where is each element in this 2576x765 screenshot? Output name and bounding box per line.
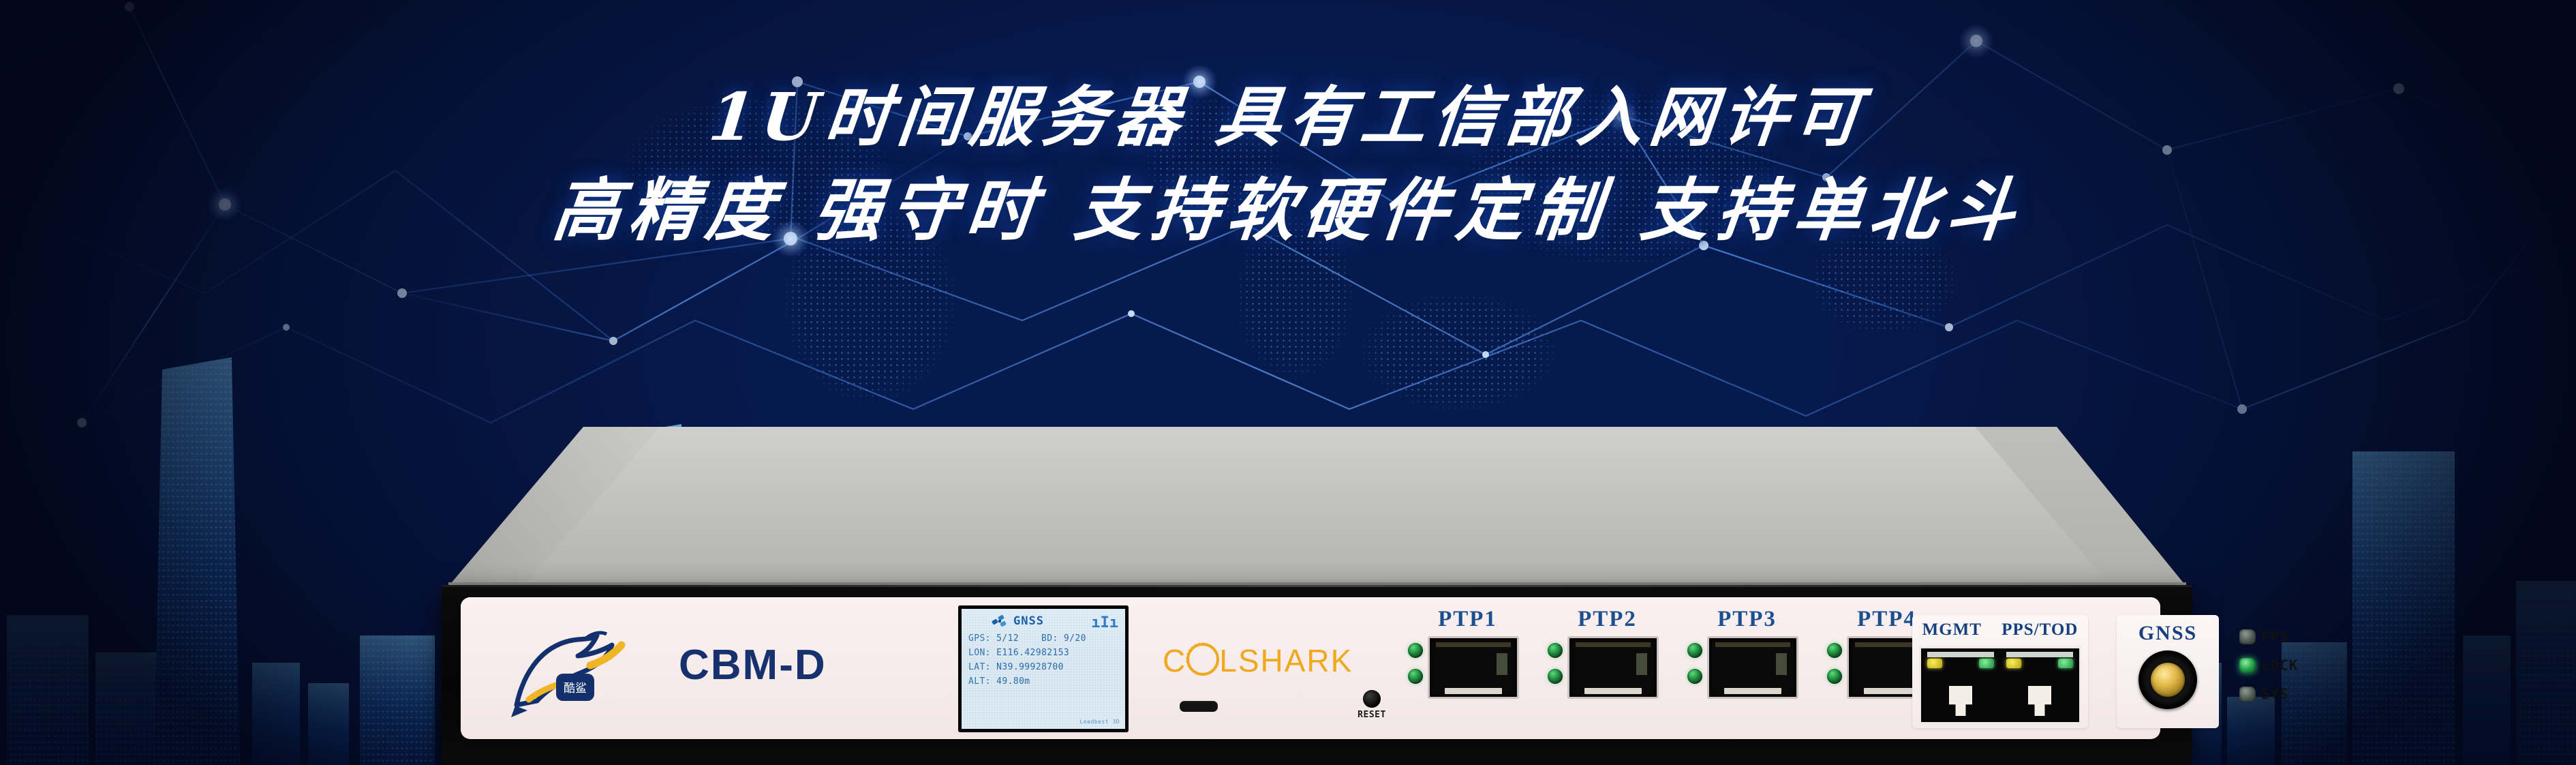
- device-front-panel: 酷鲨 CBM-D GNSS ıIı: [461, 597, 2160, 739]
- mgmt-led-yellow: [1927, 659, 1942, 668]
- lcd-title: GNSS: [1013, 614, 1044, 628]
- status-led-group: PPS LOCK SYS: [2239, 629, 2299, 702]
- ptp-4-led-bottom: [1827, 669, 1842, 684]
- lcd-gps-key: GPS:: [968, 633, 991, 644]
- coolshark-wordmark: CLSHARK: [1163, 642, 1353, 679]
- ptp-1-led-bottom: [1408, 669, 1423, 684]
- ptp-2-led-bottom: [1548, 669, 1563, 684]
- satellite-icon: [992, 614, 1009, 628]
- status-led-sys: SYS: [2239, 686, 2299, 702]
- coolshark-shark-logo: 酷鲨: [488, 615, 672, 724]
- lcd-lon-value: E116.42982153: [996, 648, 1069, 658]
- svg-text:酷鲨: 酷鲨: [564, 682, 587, 695]
- ptp-2-leds: [1548, 636, 1563, 684]
- mgmt-rj45-port[interactable]: [1923, 650, 1998, 720]
- sys-led-label: SYS: [2261, 686, 2289, 702]
- lock-led-label: LOCK: [2261, 657, 2299, 674]
- device-model-label: CBM-D: [679, 641, 827, 689]
- pps-tod-rj45-port[interactable]: [2002, 650, 2077, 720]
- ptp-port-2[interactable]: PTP2: [1548, 607, 1667, 699]
- pps-tod-led-green: [2058, 659, 2073, 668]
- reset-pinhole-icon[interactable]: [1363, 690, 1381, 708]
- lcd-lon-key: LON:: [968, 648, 991, 658]
- lcd-row-lat: LAT: N39.99928700: [962, 658, 1125, 672]
- reset-label: RESET: [1348, 710, 1396, 720]
- pps-tod-port-label: PPS/TOD: [2002, 620, 2078, 640]
- lcd-alt-key: ALT:: [968, 676, 991, 687]
- sys-led-icon: [2239, 687, 2256, 702]
- ptp-port-1-label: PTP1: [1408, 607, 1527, 632]
- status-led-pps: PPS: [2239, 629, 2299, 645]
- pps-tod-led-yellow: [2006, 659, 2021, 668]
- gnss-label: GNSS: [2117, 615, 2219, 645]
- usb-slot[interactable]: [1180, 701, 1218, 712]
- ptp-3-led-top: [1687, 643, 1702, 658]
- ptp-3-leds: [1687, 636, 1702, 684]
- pps-led-icon: [2239, 629, 2256, 644]
- ptp-3-sfp-cage[interactable]: [1707, 636, 1798, 699]
- ptp-port-3-label: PTP3: [1687, 607, 1807, 632]
- lock-led-icon: [2239, 658, 2256, 673]
- ptp-2-sfp-cage[interactable]: [1567, 636, 1659, 699]
- gnss-sma-connector-icon[interactable]: [2138, 650, 2197, 709]
- ptp-port-1[interactable]: PTP1: [1408, 607, 1527, 699]
- ptp-port-2-label: PTP2: [1548, 607, 1667, 632]
- pps-led-label: PPS: [2261, 629, 2289, 645]
- ptp-2-led-top: [1548, 643, 1563, 658]
- lcd-lat-value: N39.99928700: [996, 662, 1064, 672]
- lcd-lat-key: LAT:: [968, 662, 991, 672]
- rj45-port-group: MGMT PPS/TOD: [1912, 615, 2088, 728]
- ptp-1-led-top: [1408, 643, 1423, 658]
- status-led-lock: LOCK: [2239, 657, 2299, 674]
- ptp-port-3[interactable]: PTP3: [1687, 607, 1807, 699]
- ptp-1-leds: [1408, 636, 1423, 684]
- product-device: 酷鲨 CBM-D GNSS ıIı: [442, 424, 2192, 765]
- mgmt-port-label: MGMT: [1922, 620, 1982, 640]
- lcd-bd-value: 9/20: [1064, 633, 1086, 644]
- lcd-row-gps: GPS: 5/12 BD: 9/20: [962, 629, 1125, 644]
- lcd-row-lon: LON: E116.42982153: [962, 644, 1125, 658]
- ptp-3-led-bottom: [1687, 669, 1702, 684]
- ptp-4-leds: [1827, 636, 1842, 684]
- coolshark-ring-glyph: [1186, 643, 1219, 676]
- lcd-alt-value: 49.80m: [996, 676, 1030, 687]
- mgmt-led-green: [1979, 659, 1994, 668]
- lcd-row-alt: ALT: 49.80m: [962, 672, 1125, 687]
- ptp-1-sfp-cage[interactable]: [1428, 636, 1519, 699]
- ptp-4-led-top: [1827, 643, 1842, 658]
- lcd-screen: GNSS ıIı GPS: 5/12 BD: 9/20 LON: E116.42…: [958, 605, 1129, 732]
- lcd-gps-value: 5/12: [996, 633, 1019, 644]
- lcd-footer-text: Leadbest 3D: [1080, 719, 1120, 725]
- ptp-port-bank: PTP1 PTP2: [1408, 607, 1946, 699]
- reset-button[interactable]: RESET: [1348, 690, 1396, 720]
- lcd-bd-key: BD:: [1041, 633, 1058, 644]
- gnss-antenna-block[interactable]: GNSS: [2117, 615, 2219, 728]
- device-top-plate: [442, 424, 2192, 593]
- product-banner: 1U时间服务器 具有工信部入网许可 高精度 强守时 支持软硬件定制 支持单北斗: [0, 0, 2576, 765]
